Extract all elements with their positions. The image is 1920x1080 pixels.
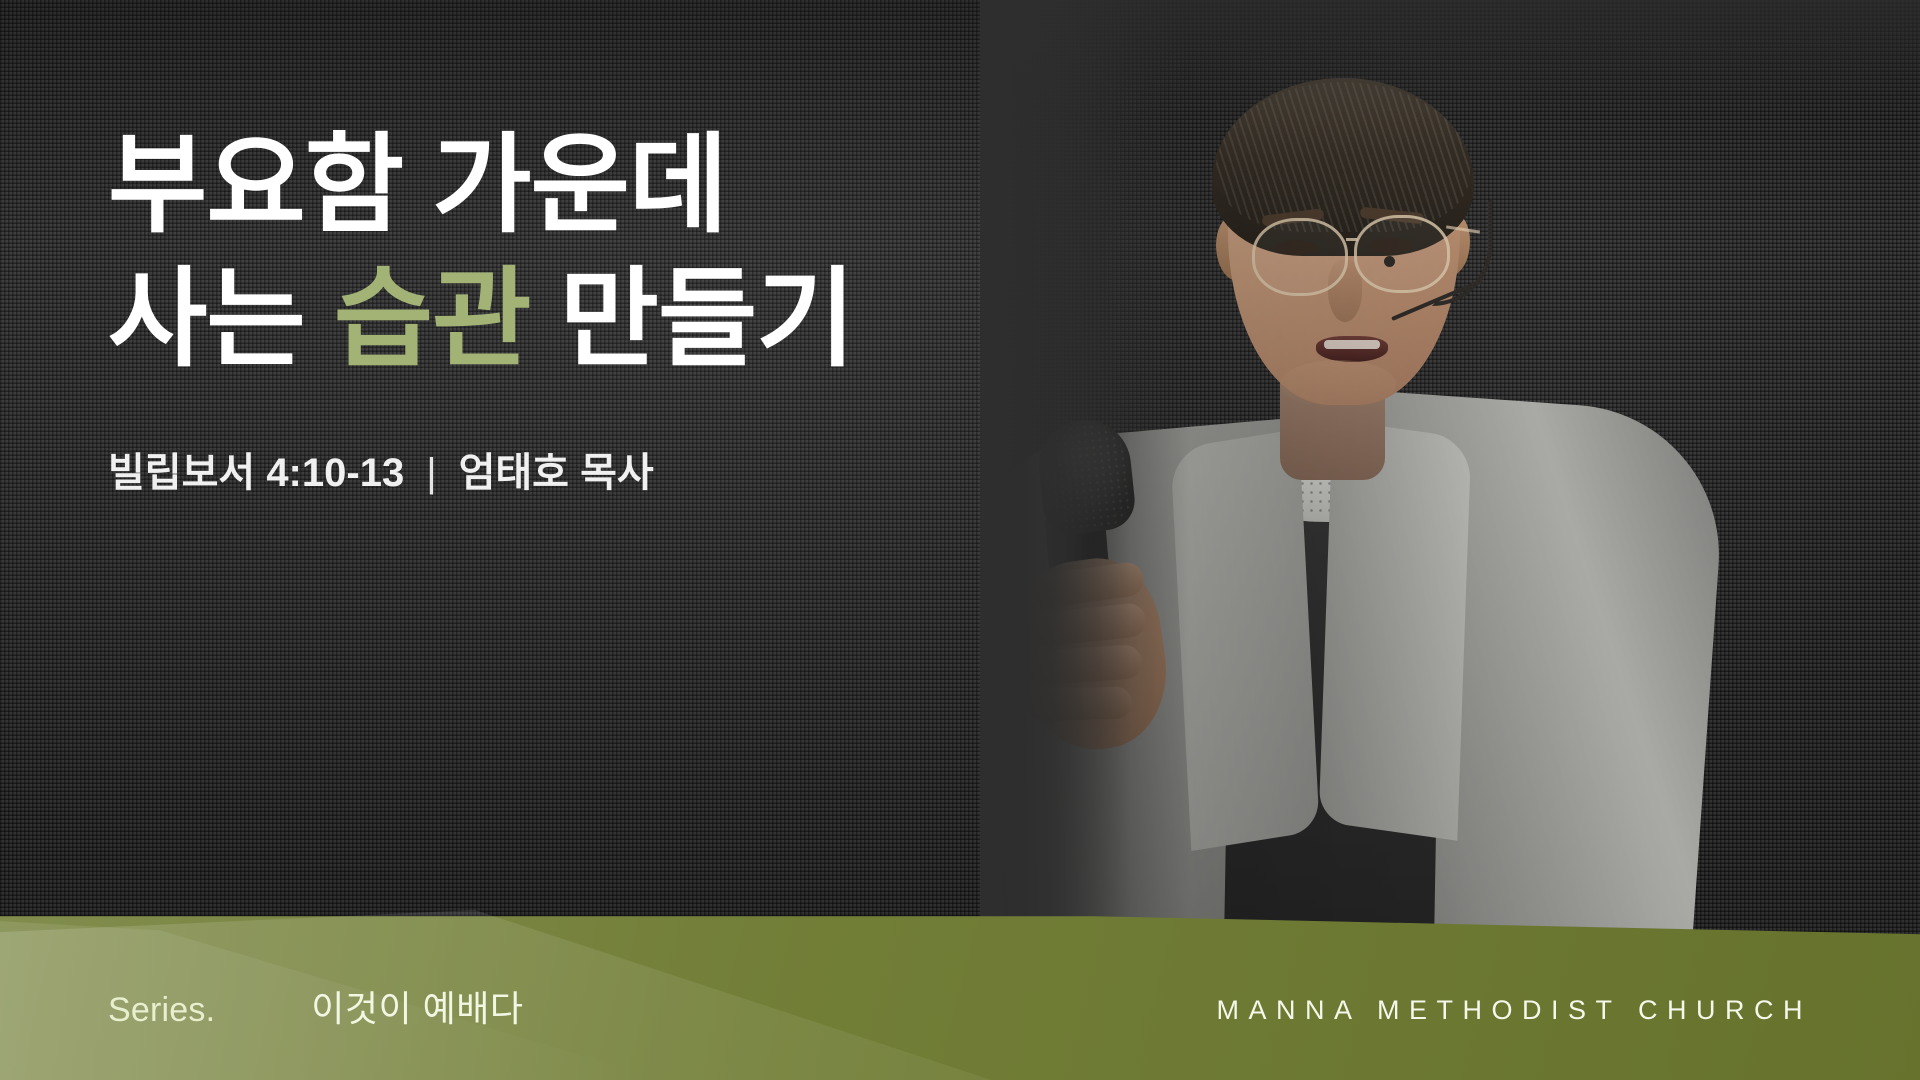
- speaker-photo: [980, 0, 1920, 935]
- subtitle-separator: |: [426, 451, 436, 496]
- sermon-title-line-1: 부요함 가운데: [108, 118, 1008, 252]
- series-group: Series. 이것이 예배다: [108, 980, 523, 1032]
- photo-left-fade: [980, 0, 1190, 935]
- speaker-name: 엄태호 목사: [459, 451, 654, 495]
- title-accent-word: 습관: [334, 258, 531, 379]
- photo-top-fade: [980, 0, 1920, 120]
- footer-band: Series. 이것이 예배다 MANNA METHODIST CHURCH: [0, 900, 1920, 1080]
- headline-block: 부요함 가운데 사는 습관 만들기 빌립보서 4:10-13|엄태호 목사: [108, 118, 1008, 498]
- scripture-and-speaker-line: 빌립보서 4:10-13|엄태호 목사: [108, 440, 1008, 498]
- scripture-reference: 빌립보서 4:10-13: [108, 451, 404, 495]
- series-title: 이것이 예배다: [311, 980, 523, 1032]
- series-label: Series.: [108, 991, 215, 1030]
- title-segment-after: 만들기: [530, 258, 854, 379]
- sermon-title-slide: 부요함 가운데 사는 습관 만들기 빌립보서 4:10-13|엄태호 목사 Se…: [0, 0, 1920, 1080]
- church-name: MANNA METHODIST CHURCH: [1216, 995, 1812, 1026]
- sermon-title-line-2: 사는 습관 만들기: [108, 252, 1008, 386]
- title-segment-before: 사는: [108, 258, 334, 379]
